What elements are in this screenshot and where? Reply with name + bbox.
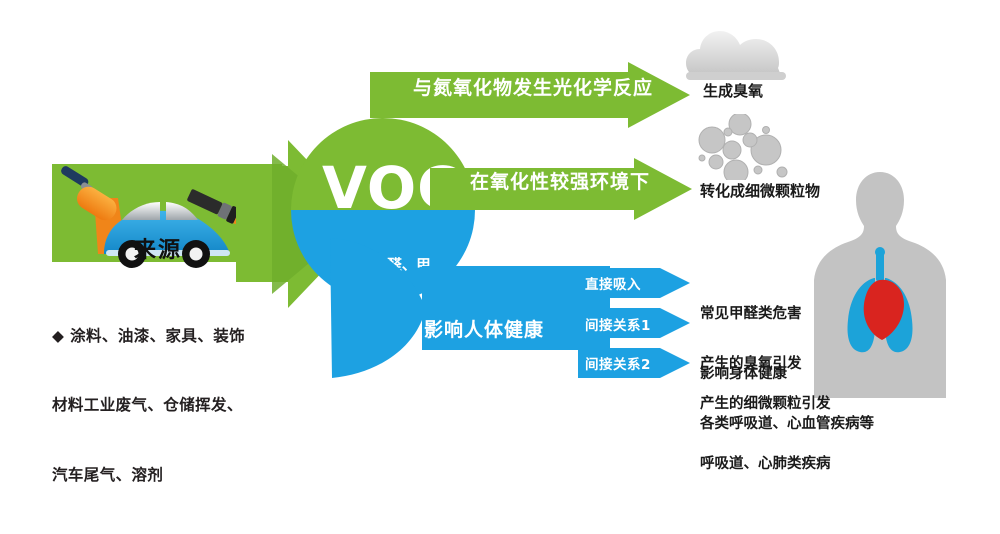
effect-text-indirect-2: 产生的细微颗粒引发 呼吸道、心肺类疾病 (700, 354, 831, 514)
cloud-icon (686, 26, 796, 80)
sub-arrow-label-indirect-1: 间接关系1 (585, 318, 651, 336)
source-line-1: ◆ 涂料、油漆、家具、装饰 (52, 325, 302, 348)
outcome-ozone: 生成臭氧 (703, 82, 763, 102)
effect-3-line-1: 产生的细微颗粒引发 (700, 394, 831, 414)
outcome-particulates: 转化成细微颗粒物 (700, 182, 820, 202)
infographic-canvas: 来源 ◆ 涂料、油漆、家具、装饰 材料工业废气、仓储挥发、 汽车尾气、溶剂 VO… (0, 0, 1000, 412)
source-label: 来源 (134, 236, 182, 265)
source-line-2: 材料工业废气、仓储挥发、 (52, 394, 302, 417)
branch-label-health: 影响人体健康 (424, 318, 544, 343)
branch-arrow-health[interactable] (330, 238, 610, 378)
branch-label-photochemical: 与氮氧化物发生光化学反应 (413, 76, 653, 101)
sub-arrow-label-indirect-2: 间接关系2 (585, 357, 651, 375)
source-line-3: 汽车尾气、溶剂 (52, 464, 302, 487)
branch-label-oxidation: 在氧化性较强环境下 (470, 170, 650, 195)
sub-arrow-label-direct: 直接吸入 (585, 277, 641, 295)
source-list: ◆ 涂料、油漆、家具、装饰 材料工业废气、仓储挥发、 汽车尾气、溶剂 (52, 278, 302, 534)
effect-3-line-2: 呼吸道、心肺类疾病 (700, 454, 831, 474)
particles-icon (692, 114, 800, 180)
